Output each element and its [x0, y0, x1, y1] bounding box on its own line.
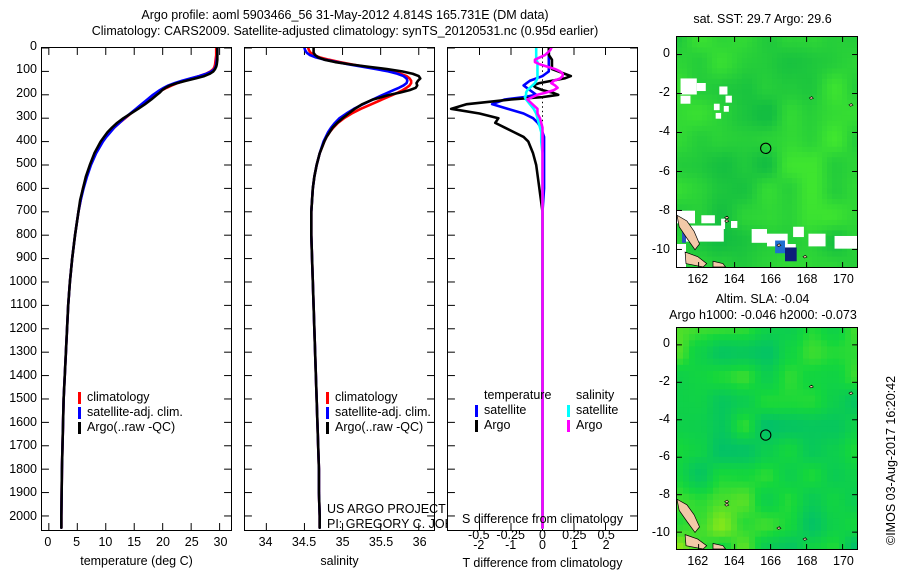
legend-header: temperature — [475, 388, 551, 403]
depth-tick: 800 — [0, 227, 37, 241]
difference-plot-area — [448, 48, 637, 530]
depth-tick: 300 — [0, 109, 37, 123]
depth-tick: 600 — [0, 180, 37, 194]
legend-item: Argo — [475, 418, 551, 433]
depth-tick: 1100 — [0, 297, 37, 311]
t-diff-tick: 2 — [584, 538, 628, 552]
difference-legend-salinity: salinity satellite Argo — [567, 388, 618, 433]
salinity-tick: 36 — [398, 535, 442, 549]
map-lat-tick: -10 — [640, 242, 670, 256]
difference-legend-temperature: temperature satellite Argo — [475, 388, 551, 433]
sla-map-title-line2: Argo h1000: -0.046 h2000: -0.073 — [648, 308, 878, 322]
legend-label: satellite — [484, 403, 526, 418]
panel-salinity[interactable] — [244, 47, 435, 531]
figure-title-line2: Climatology: CARS2009. Satellite-adjuste… — [0, 24, 690, 38]
depth-tick: 400 — [0, 133, 37, 147]
map-lat-tick: -8 — [640, 203, 670, 217]
imos-copyright: ©IMOS 03-Aug-2017 16:20:42 — [884, 376, 898, 545]
depth-tick: 700 — [0, 203, 37, 217]
map-lon-tick: 164 — [714, 272, 754, 286]
legend-item: climatology — [78, 390, 183, 405]
depth-tick: 1600 — [0, 415, 37, 429]
figure-title-line1: Argo profile: aoml 5903466_56 31-May-201… — [0, 8, 690, 22]
legend-swatch-climatology — [78, 392, 81, 404]
legend-label: satellite — [576, 403, 618, 418]
map-lat-tick: -8 — [640, 487, 670, 501]
legend-item: Argo — [567, 418, 618, 433]
map-lon-tick: 166 — [751, 554, 791, 568]
figure-root: Argo profile: aoml 5903466_56 31-May-201… — [0, 0, 900, 580]
legend-label: satellite-adj. clim. — [335, 405, 431, 420]
sla-map-canvas — [677, 328, 857, 549]
legend-swatch-t-satellite — [475, 405, 478, 417]
legend-label: climatology — [335, 390, 398, 405]
depth-tick: 1500 — [0, 391, 37, 405]
legend-item: satellite-adj. clim. — [326, 405, 431, 420]
depth-tick: 1300 — [0, 344, 37, 358]
temperature-legend: climatology satellite-adj. clim. Argo(..… — [78, 390, 183, 435]
map-lat-tick: -4 — [640, 124, 670, 138]
legend-swatch-climatology — [326, 392, 329, 404]
legend-label: satellite-adj. clim. — [87, 405, 183, 420]
legend-item: Argo(..raw -QC) — [78, 420, 183, 435]
depth-tick: 2000 — [0, 509, 37, 523]
legend-swatch-satellite-adj — [326, 407, 329, 419]
legend-label: Argo — [484, 418, 510, 433]
map-lon-tick: 168 — [787, 554, 827, 568]
salinity-plot-area — [245, 48, 434, 530]
map-lat-tick: -2 — [640, 374, 670, 388]
legend-item: climatology — [326, 390, 431, 405]
t-difference-axis-label: T difference from climatology — [437, 556, 648, 570]
map-lat-tick: 0 — [640, 46, 670, 60]
salinity-axis-label: salinity — [244, 554, 435, 568]
sst-map-title: sat. SST: 29.7 Argo: 29.6 — [655, 12, 870, 26]
map-lon-tick: 170 — [823, 272, 863, 286]
temperature-tick: 30 — [200, 535, 240, 549]
temperature-plot-area — [42, 48, 231, 530]
map-lat-tick: -6 — [640, 164, 670, 178]
legend-swatch-satellite-adj — [78, 407, 81, 419]
map-lon-tick: 168 — [787, 272, 827, 286]
map-lon-tick: 162 — [678, 272, 718, 286]
map-lat-tick: -4 — [640, 412, 670, 426]
sst-map-canvas — [677, 37, 857, 267]
map-lon-tick: 164 — [714, 554, 754, 568]
salinity-legend: climatology satellite-adj. clim. Argo(..… — [326, 390, 431, 435]
depth-tick: 900 — [0, 250, 37, 264]
difference-legend: temperature satellite Argo salinity sate… — [455, 388, 635, 438]
panel-temperature[interactable] — [41, 47, 232, 531]
legend-swatch-argo — [78, 422, 81, 434]
depth-tick: 1800 — [0, 462, 37, 476]
depth-tick: 200 — [0, 86, 37, 100]
legend-swatch-s-argo — [567, 420, 570, 432]
depth-tick: 1200 — [0, 321, 37, 335]
legend-label: climatology — [87, 390, 150, 405]
map-lon-tick: 166 — [751, 272, 791, 286]
depth-tick: 0 — [0, 39, 37, 53]
map-lat-tick: -10 — [640, 525, 670, 539]
map-sst[interactable] — [676, 36, 858, 268]
legend-swatch-argo — [326, 422, 329, 434]
map-lon-tick: 162 — [678, 554, 718, 568]
map-lat-tick: 0 — [640, 336, 670, 350]
legend-item: Argo(..raw -QC) — [326, 420, 431, 435]
panel-difference[interactable] — [447, 47, 638, 531]
depth-tick: 1000 — [0, 274, 37, 288]
map-lat-tick: -2 — [640, 85, 670, 99]
salinity-tick: 35.5 — [359, 535, 403, 549]
legend-swatch-s-satellite — [567, 405, 570, 417]
legend-swatch-t-argo — [475, 420, 478, 432]
legend-item: satellite — [567, 403, 618, 418]
depth-tick: 1700 — [0, 438, 37, 452]
salinity-tick: 35 — [321, 535, 365, 549]
legend-label: Argo(..raw -QC) — [335, 420, 423, 435]
depth-tick: 100 — [0, 62, 37, 76]
legend-label: Argo(..raw -QC) — [87, 420, 175, 435]
s-difference-axis-label: S difference from climatology — [437, 512, 648, 526]
legend-label: Argo — [576, 418, 602, 433]
depth-tick: 1900 — [0, 485, 37, 499]
salinity-tick: 34 — [244, 535, 288, 549]
temperature-axis-label: temperature (deg C) — [41, 554, 232, 568]
map-lon-tick: 170 — [823, 554, 863, 568]
legend-header: salinity — [567, 388, 618, 403]
legend-item: satellite — [475, 403, 551, 418]
depth-tick: 1400 — [0, 368, 37, 382]
map-sla[interactable] — [676, 327, 858, 550]
sla-map-title-line1: Altim. SLA: -0.04 — [655, 292, 870, 306]
salinity-tick: 34.5 — [282, 535, 326, 549]
depth-tick: 500 — [0, 156, 37, 170]
map-lat-tick: -6 — [640, 449, 670, 463]
legend-item: satellite-adj. clim. — [78, 405, 183, 420]
